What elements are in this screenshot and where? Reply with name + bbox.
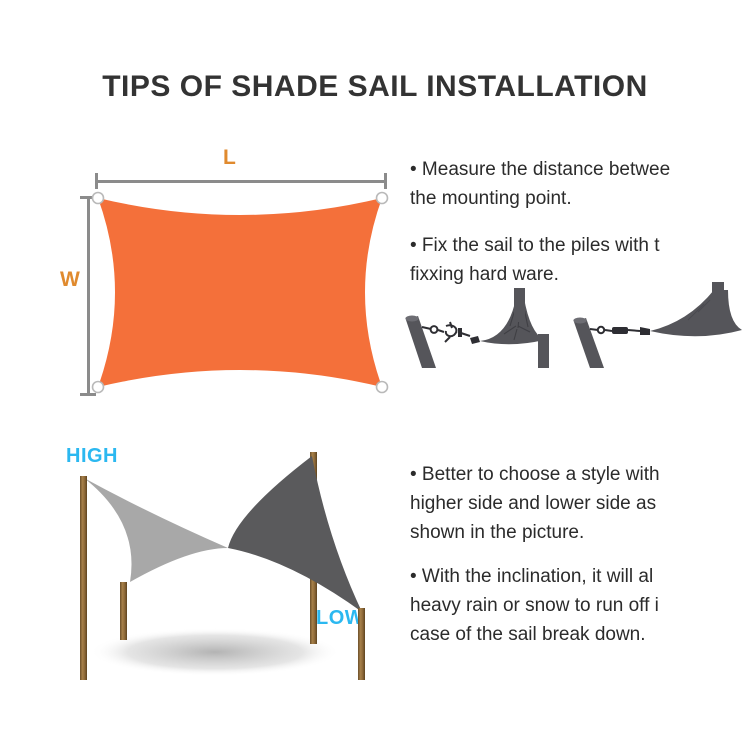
post-icon: [712, 282, 724, 304]
tips-bottom-bullet-1: • Better to choose a style with higher s…: [410, 460, 660, 547]
hardware-figure: [398, 282, 750, 368]
tips-bottom-bullet-2: • With the inclination, it will al heavy…: [410, 562, 659, 649]
bullet-line: case of the sail break down.: [410, 620, 659, 649]
orange-shade-sail-shape: [90, 190, 390, 395]
length-dimension-label: L: [223, 146, 236, 170]
bullet-line: the mounting point.: [410, 184, 670, 213]
installation-figure: HIGH LOW: [40, 430, 420, 715]
bullet-line: • Better to choose a style with: [410, 460, 660, 489]
length-dimension-line: [95, 180, 387, 183]
shackle-icon: [640, 327, 650, 335]
bullet-line: shown in the picture.: [410, 518, 660, 547]
shackle-icon: [470, 336, 480, 344]
turnbuckle-icon: [612, 327, 628, 334]
turnbuckle-chain-icon: [590, 327, 612, 333]
bullet-line: • With the inclination, it will al: [410, 562, 659, 591]
shade-sail-dark: [228, 456, 362, 612]
post-icon: [538, 334, 549, 368]
hardware-diagram-left: [405, 288, 549, 368]
page-title: TIPS OF SHADE SAIL INSTALLATION: [0, 70, 750, 104]
post-icon: [573, 318, 604, 369]
post-icon: [120, 582, 127, 640]
sail-dimension-figure: L W: [60, 140, 400, 400]
width-dimension-label: W: [60, 268, 80, 292]
infographic-page: TIPS OF SHADE SAIL INSTALLATION L W • Me…: [0, 0, 750, 750]
triangular-sail-corner: [480, 298, 544, 344]
ground-shadow: [90, 628, 340, 676]
tips-top-bullet-2: • Fix the sail to the piles with t fixxi…: [410, 231, 660, 289]
post-icon: [358, 608, 365, 680]
shade-sail-installation-drawing: [40, 430, 420, 715]
turnbuckle-chain-icon: [422, 322, 470, 342]
post-icon: [514, 288, 525, 322]
bullet-line: • Fix the sail to the piles with t: [410, 231, 660, 260]
triangular-sail-corner: [650, 290, 742, 336]
post-icon: [405, 316, 436, 369]
post-icon: [80, 476, 87, 680]
bullet-line: higher side and lower side as: [410, 489, 660, 518]
bullet-line: heavy rain or snow to run off i: [410, 591, 659, 620]
hardware-diagram-right: [573, 282, 742, 368]
shade-sail-light: [84, 478, 228, 582]
bullet-line: • Measure the distance betwee: [410, 155, 670, 184]
tips-top-bullet-1: • Measure the distance betwee the mounti…: [410, 155, 670, 213]
